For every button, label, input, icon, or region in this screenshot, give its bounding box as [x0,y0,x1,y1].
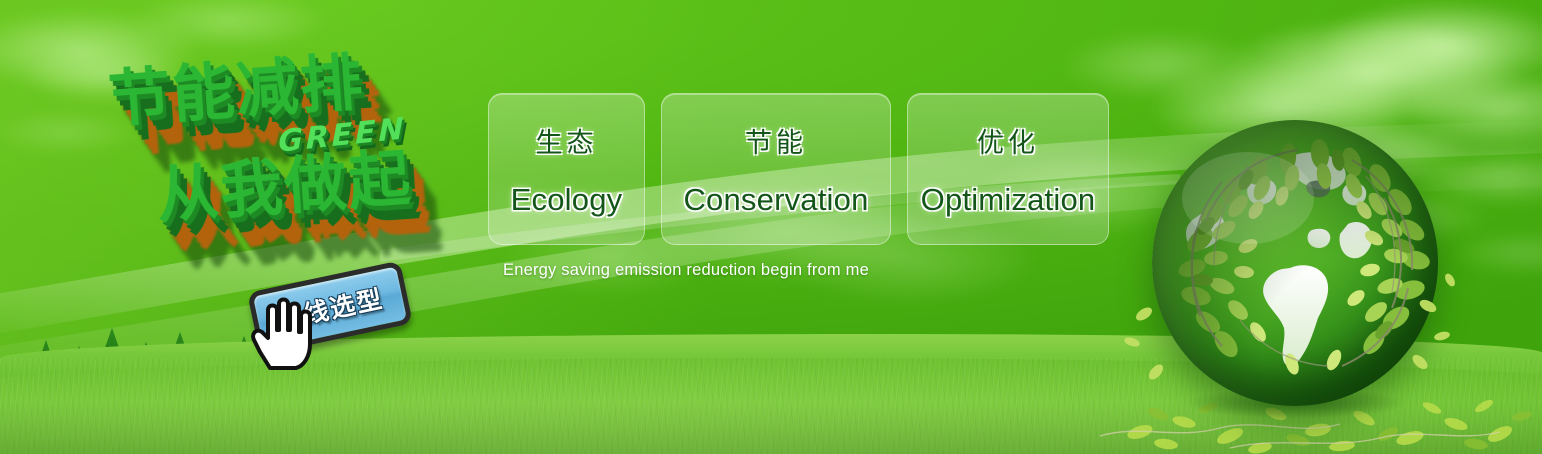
feature-card-cn-label: 优化 [977,121,1039,160]
feature-card-conservation[interactable]: 节能 Conservation [661,93,891,245]
feature-card-list: 生态 Ecology 节能 Conservation 优化 Optimizati… [488,93,1109,243]
earth-globe [1130,110,1460,440]
globe-sphere [1152,120,1438,406]
green-energy-banner: 节能减排 GREEN 从我做起 在线选型 生态 Ecology 节能 Conse… [0,0,1542,454]
banner-tagline: Energy saving emission reduction begin f… [503,261,869,280]
feature-card-en-label: Conservation [683,182,868,218]
feature-card-optimization[interactable]: 优化 Optimization [907,93,1109,245]
feature-card-cn-label: 生态 [536,121,598,160]
feature-card-en-label: Ecology [511,182,623,218]
hand-pointer-icon [244,294,314,370]
feature-card-ecology[interactable]: 生态 Ecology [488,93,645,245]
feature-card-cn-label: 节能 [745,121,807,160]
online-selection-cta[interactable]: 在线选型 [252,272,422,350]
feature-card-en-label: Optimization [921,182,1096,218]
